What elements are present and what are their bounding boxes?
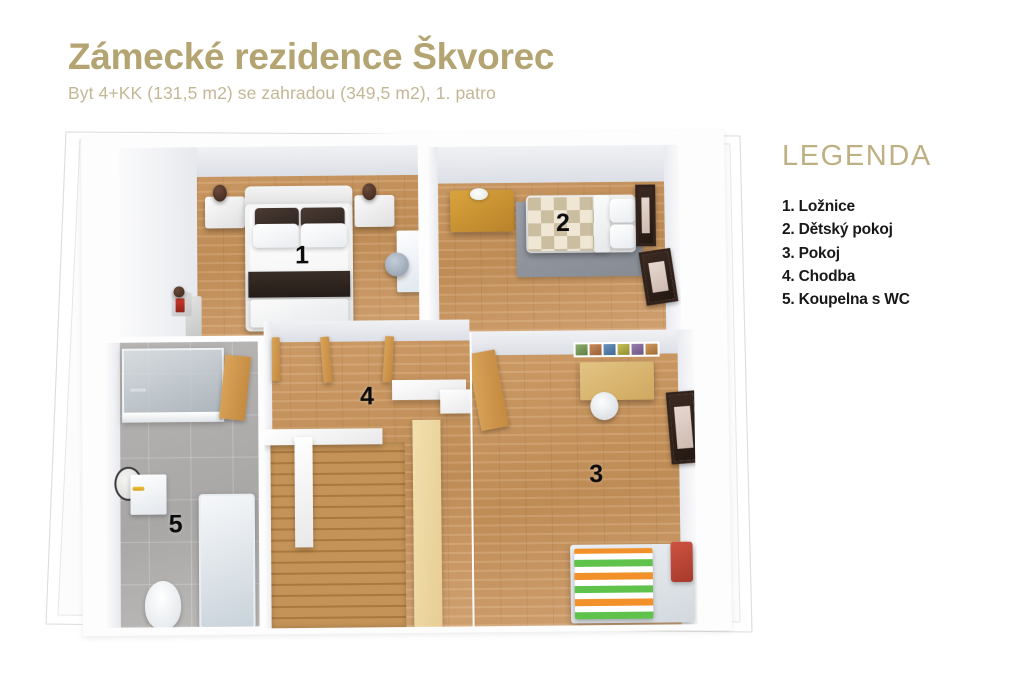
bed-throw <box>593 195 610 253</box>
nightstand-right <box>354 195 394 227</box>
framed-picture-room-2 <box>635 185 656 247</box>
wardrobe-sliding-door <box>412 420 442 627</box>
hallway-right-wall <box>440 389 470 413</box>
pillow-white-left <box>253 224 299 248</box>
decor-bottle-red <box>176 298 185 312</box>
bed-pillow-2-room-2 <box>610 224 636 248</box>
room-3-pokoj: 3 <box>471 329 697 626</box>
room-number-3: 3 <box>589 460 603 489</box>
room-1-loznice: 1 <box>119 145 419 337</box>
towel-rail <box>132 487 144 491</box>
toilet <box>145 581 181 628</box>
stair-balustrade-top <box>264 428 382 445</box>
room-number-1: 1 <box>295 241 309 270</box>
legend-title: LEGENDA <box>782 142 1012 171</box>
legend-item-5: 5. Koupelna s WC <box>782 288 1012 311</box>
room-number-4: 4 <box>360 382 374 411</box>
shower-fitting <box>130 388 146 391</box>
daybed-cushion-red <box>670 542 693 582</box>
washbasin <box>130 474 166 514</box>
nightstand-left <box>205 196 245 228</box>
striped-quilt <box>574 548 653 619</box>
decor-ball <box>174 286 185 297</box>
stair-balustrade-side <box>294 437 313 548</box>
page-subtitle: Byt 4+KK (131,5 m2) se zahradou (349,5 m… <box>68 83 708 104</box>
table-lamp-right <box>362 183 376 200</box>
legend-item-2: 2. Dětský pokoj <box>782 218 1012 241</box>
apartment-shell: 1 <box>81 130 732 636</box>
room-2-detsky-pokoj: 2 <box>428 145 682 332</box>
hallway-door-left <box>272 337 280 381</box>
desk-chair-room-1 <box>385 252 409 276</box>
bathtub <box>199 494 256 628</box>
legend-item-4: 4. Chodba <box>782 265 1012 288</box>
page-title: Zámecké rezidence Škvorec <box>68 38 708 77</box>
table-lamp-left <box>213 185 227 202</box>
desk-room-3 <box>580 362 655 401</box>
legend: LEGENDA 1. Ložnice 2. Dětský pokoj 3. Po… <box>782 142 1012 311</box>
staircase <box>270 442 406 628</box>
room-number-5: 5 <box>169 510 183 539</box>
header: Zámecké rezidence Škvorec Byt 4+KK (131,… <box>68 38 708 104</box>
room-number-2: 2 <box>556 209 570 238</box>
room-4-chodba: 4 <box>264 320 473 629</box>
desk-chair-room-3 <box>590 392 618 420</box>
shower-tray-lip <box>122 412 220 423</box>
legend-list: 1. Ložnice 2. Dětský pokoj 3. Pokoj 4. C… <box>782 195 1012 311</box>
framed-picture-room-3 <box>666 390 698 464</box>
bed-runner <box>248 271 350 298</box>
legend-item-1: 1. Ložnice <box>782 195 1012 218</box>
photo-wall <box>576 344 658 356</box>
legend-item-3: 3. Pokoj <box>782 242 1012 265</box>
room-5-koupelna-s-wc: 5 <box>106 341 260 627</box>
bed-pillow-room-2 <box>609 199 635 223</box>
floorplan-3d-render: 1 <box>40 118 760 658</box>
